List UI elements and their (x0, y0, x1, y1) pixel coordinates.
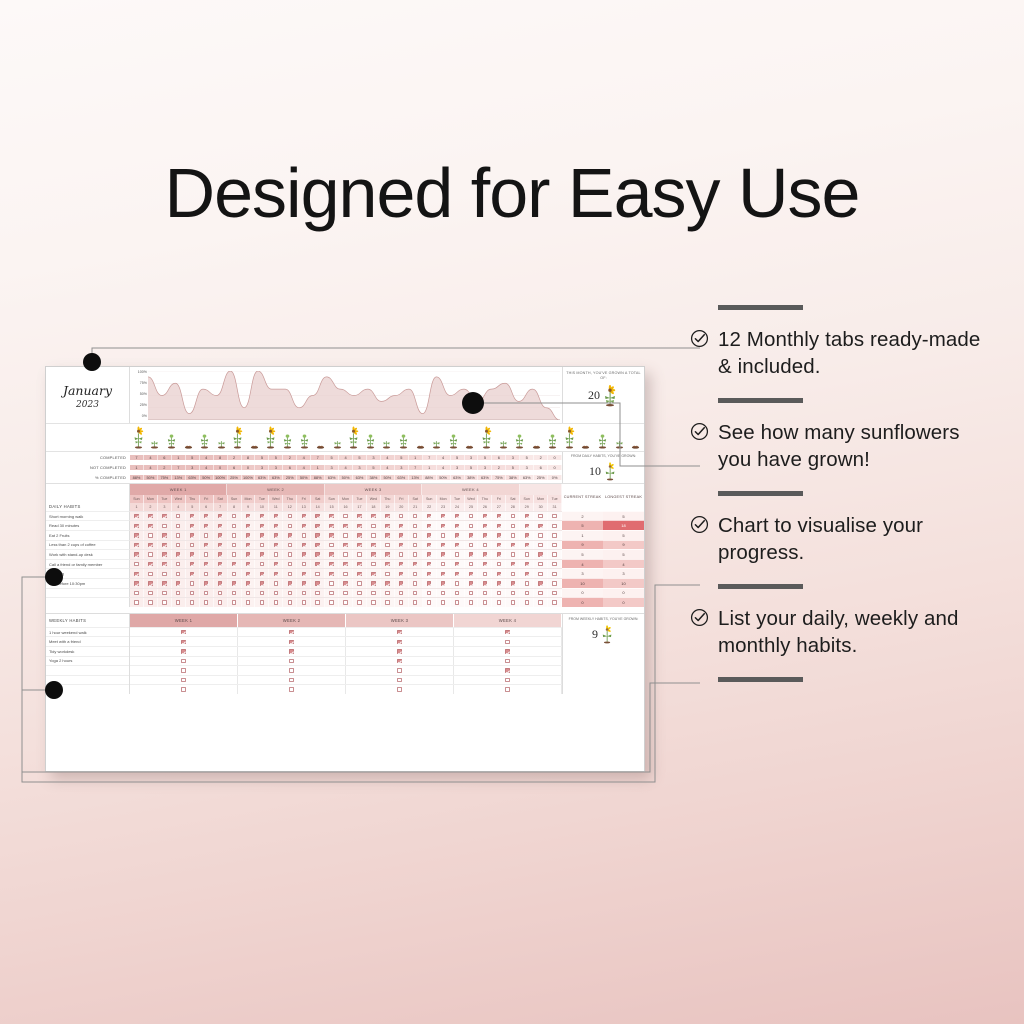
habit-checkbox-cell[interactable] (353, 589, 367, 598)
daily-habits-day-grid[interactable]: WEEK 1WEEK 2WEEK 3WEEK 4 SunMonTueWedThu… (130, 484, 562, 607)
checkbox-checked[interactable] (455, 562, 459, 566)
checkbox-checked[interactable] (413, 562, 417, 566)
checkbox-checked[interactable] (232, 562, 236, 566)
habit-checkbox-cell[interactable] (158, 521, 172, 530)
checkbox-checked[interactable] (181, 649, 185, 653)
checkbox-checked[interactable] (538, 524, 542, 528)
habit-checkbox-cell[interactable] (492, 589, 506, 598)
checkbox-unchecked[interactable] (538, 572, 542, 576)
habit-checkbox-cell[interactable] (492, 550, 506, 559)
checkbox-checked[interactable] (176, 552, 180, 556)
habit-checkbox-cell[interactable] (214, 598, 228, 607)
habit-checkbox-cell[interactable] (520, 550, 534, 559)
habit-checkbox-cell[interactable] (534, 512, 548, 521)
checkbox-checked[interactable] (371, 552, 375, 556)
habit-checkbox-cell[interactable] (255, 598, 269, 607)
checkbox-checked[interactable] (427, 581, 431, 585)
habit-checkbox-cell[interactable] (492, 598, 506, 607)
habit-checkbox-cell[interactable] (478, 569, 492, 578)
checkbox-checked[interactable] (329, 533, 333, 537)
checkbox-unchecked[interactable] (204, 533, 208, 537)
weekly-checkbox-cell[interactable] (454, 647, 562, 656)
habit-checkbox-cell[interactable] (451, 569, 465, 578)
habit-checkbox-cell[interactable] (339, 569, 353, 578)
habit-checkbox-cell[interactable] (423, 531, 437, 540)
habit-checkbox-cell[interactable] (409, 598, 423, 607)
checkbox-unchecked[interactable] (469, 600, 473, 604)
habit-checkbox-cell[interactable] (242, 569, 256, 578)
habit-checkbox-cell[interactable] (451, 560, 465, 569)
habit-checkbox-cell[interactable] (186, 579, 200, 588)
checkbox-checked[interactable] (427, 524, 431, 528)
checkbox-checked[interactable] (505, 649, 509, 653)
habit-checkbox-cell[interactable] (242, 589, 256, 598)
checkbox-unchecked[interactable] (357, 552, 361, 556)
checkbox-checked[interactable] (525, 543, 529, 547)
checkbox-unchecked[interactable] (399, 514, 403, 518)
weekly-habits-grid[interactable]: WEEK 1WEEK 2WEEK 3WEEK 4 (130, 614, 562, 694)
weekly-habit-row[interactable]: Tidy workdesk (46, 646, 129, 656)
habit-checkbox-cell[interactable] (353, 560, 367, 569)
checkbox-checked[interactable] (483, 524, 487, 528)
habit-checkbox-cell[interactable] (506, 512, 520, 521)
habit-checkbox-cell[interactable] (353, 541, 367, 550)
habit-checkbox-cell[interactable] (506, 521, 520, 530)
checkbox-unchecked[interactable] (181, 678, 185, 682)
habit-checkbox-cell[interactable] (242, 531, 256, 540)
checkbox-unchecked[interactable] (413, 514, 417, 518)
habit-checkbox-cell[interactable] (158, 550, 172, 559)
checkbox-checked[interactable] (483, 533, 487, 537)
habit-checkbox-cell[interactable] (297, 531, 311, 540)
habit-checkbox-cell[interactable] (492, 560, 506, 569)
checkbox-unchecked[interactable] (469, 543, 473, 547)
habit-checkbox-cell[interactable] (214, 512, 228, 521)
habit-checkbox-cell[interactable] (534, 531, 548, 540)
checkbox-checked[interactable] (246, 524, 250, 528)
checkbox-checked[interactable] (148, 562, 152, 566)
habit-checkbox-cell[interactable] (325, 569, 339, 578)
checkbox-checked[interactable] (525, 572, 529, 576)
habit-checkbox-cell[interactable] (339, 521, 353, 530)
checkbox-checked[interactable] (246, 572, 250, 576)
habit-checkbox-cell[interactable] (395, 531, 409, 540)
checkbox-checked[interactable] (288, 581, 292, 585)
checkbox-checked[interactable] (190, 552, 194, 556)
habit-checkbox-cell[interactable] (548, 589, 562, 598)
habit-checkbox-cell[interactable] (200, 589, 214, 598)
checkbox-unchecked[interactable] (162, 591, 166, 595)
weekly-checkbox-cell[interactable] (454, 676, 562, 685)
checkbox-unchecked[interactable] (232, 524, 236, 528)
habit-checkbox-cell[interactable] (465, 521, 479, 530)
checkbox-checked[interactable] (511, 543, 515, 547)
habit-checkbox-cell[interactable] (172, 531, 186, 540)
checkbox-unchecked[interactable] (511, 524, 515, 528)
checkbox-checked[interactable] (148, 543, 152, 547)
checkbox-unchecked[interactable] (134, 600, 138, 604)
habit-checkbox-cell[interactable] (283, 541, 297, 550)
checkbox-unchecked[interactable] (176, 533, 180, 537)
habit-checkbox-cell[interactable] (409, 541, 423, 550)
checkbox-unchecked[interactable] (511, 552, 515, 556)
checkbox-unchecked[interactable] (413, 524, 417, 528)
habit-checkbox-cell[interactable] (478, 521, 492, 530)
checkbox-checked[interactable] (483, 514, 487, 518)
checkbox-checked[interactable] (427, 533, 431, 537)
checkbox-unchecked[interactable] (469, 591, 473, 595)
checkbox-checked[interactable] (385, 562, 389, 566)
habit-checkbox-cell[interactable] (465, 541, 479, 550)
checkbox-checked[interactable] (399, 562, 403, 566)
habit-checkbox-cell[interactable] (158, 589, 172, 598)
habit-checkbox-cell[interactable] (367, 598, 381, 607)
checkbox-checked[interactable] (260, 514, 264, 518)
checkbox-unchecked[interactable] (505, 687, 509, 691)
habit-checkbox-cell[interactable] (367, 560, 381, 569)
habit-checkbox-cell[interactable] (311, 521, 325, 530)
habit-checkbox-cell[interactable] (158, 512, 172, 521)
habit-checkbox-row[interactable] (130, 540, 562, 550)
checkbox-checked[interactable] (427, 562, 431, 566)
checkbox-checked[interactable] (134, 514, 138, 518)
checkbox-checked[interactable] (274, 514, 278, 518)
habit-checkbox-cell[interactable] (200, 512, 214, 521)
habit-checkbox-cell[interactable] (283, 560, 297, 569)
checkbox-unchecked[interactable] (329, 581, 333, 585)
habit-checkbox-cell[interactable] (325, 512, 339, 521)
habit-checkbox-cell[interactable] (186, 550, 200, 559)
habit-checkbox-cell[interactable] (423, 550, 437, 559)
checkbox-checked[interactable] (371, 543, 375, 547)
habit-checkbox-cell[interactable] (200, 521, 214, 530)
checkbox-checked[interactable] (385, 533, 389, 537)
habit-checkbox-cell[interactable] (325, 550, 339, 559)
checkbox-unchecked[interactable] (469, 514, 473, 518)
checkbox-unchecked[interactable] (288, 524, 292, 528)
checkbox-unchecked[interactable] (397, 678, 401, 682)
checkbox-checked[interactable] (497, 552, 501, 556)
habit-checkbox-cell[interactable] (409, 550, 423, 559)
habit-checkbox-cell[interactable] (381, 598, 395, 607)
habit-checkbox-cell[interactable] (492, 512, 506, 521)
checkbox-unchecked[interactable] (288, 572, 292, 576)
habit-checkbox-cell[interactable] (353, 579, 367, 588)
checkbox-unchecked[interactable] (552, 591, 556, 595)
habit-checkbox-cell[interactable] (297, 541, 311, 550)
habit-checkbox-cell[interactable] (367, 541, 381, 550)
habit-checkbox-cell[interactable] (437, 579, 451, 588)
checkbox-unchecked[interactable] (246, 591, 250, 595)
checkbox-unchecked[interactable] (274, 581, 278, 585)
checkbox-checked[interactable] (162, 552, 166, 556)
checkbox-unchecked[interactable] (288, 543, 292, 547)
habit-checkbox-cell[interactable] (534, 598, 548, 607)
daily-habit-row[interactable]: Work with stand-up desk (46, 549, 130, 559)
checkbox-checked[interactable] (218, 562, 222, 566)
checkbox-unchecked[interactable] (302, 562, 306, 566)
checkbox-unchecked[interactable] (148, 533, 152, 537)
habit-checkbox-cell[interactable] (367, 531, 381, 540)
weekly-checkbox-cell[interactable] (130, 637, 238, 646)
habit-checkbox-cell[interactable] (353, 512, 367, 521)
habit-checkbox-cell[interactable] (367, 589, 381, 598)
checkbox-unchecked[interactable] (289, 659, 293, 663)
habit-checkbox-cell[interactable] (381, 521, 395, 530)
habit-checkbox-cell[interactable] (325, 531, 339, 540)
habit-checkbox-cell[interactable] (423, 598, 437, 607)
checkbox-checked[interactable] (441, 543, 445, 547)
checkbox-checked[interactable] (204, 581, 208, 585)
checkbox-checked[interactable] (148, 581, 152, 585)
habit-checkbox-cell[interactable] (130, 541, 144, 550)
habit-checkbox-row[interactable] (130, 578, 562, 588)
checkbox-unchecked[interactable] (399, 591, 403, 595)
checkbox-checked[interactable] (315, 581, 319, 585)
habit-checkbox-cell[interactable] (339, 531, 353, 540)
checkbox-checked[interactable] (246, 514, 250, 518)
weekly-checkbox-cell[interactable] (454, 637, 562, 646)
checkbox-unchecked[interactable] (232, 572, 236, 576)
checkbox-checked[interactable] (399, 572, 403, 576)
weekly-checkbox-cell[interactable] (238, 628, 346, 637)
habit-checkbox-cell[interactable] (269, 598, 283, 607)
checkbox-unchecked[interactable] (441, 591, 445, 595)
checkbox-unchecked[interactable] (469, 524, 473, 528)
habit-checkbox-cell[interactable] (423, 541, 437, 550)
checkbox-checked[interactable] (397, 630, 401, 634)
checkbox-checked[interactable] (538, 552, 542, 556)
habit-checkbox-cell[interactable] (548, 569, 562, 578)
habit-checkbox-cell[interactable] (395, 550, 409, 559)
checkbox-checked[interactable] (315, 552, 319, 556)
habit-checkbox-cell[interactable] (297, 589, 311, 598)
habit-checkbox-cell[interactable] (492, 521, 506, 530)
checkbox-unchecked[interactable] (190, 543, 194, 547)
weekly-checkbox-cell[interactable] (238, 657, 346, 666)
checkbox-checked[interactable] (302, 524, 306, 528)
checkbox-checked[interactable] (246, 562, 250, 566)
habit-checkbox-cell[interactable] (158, 531, 172, 540)
habit-checkbox-cell[interactable] (423, 521, 437, 530)
habit-checkbox-cell[interactable] (381, 579, 395, 588)
habit-checkbox-cell[interactable] (353, 598, 367, 607)
habit-checkbox-cell[interactable] (395, 560, 409, 569)
weekly-checkbox-cell[interactable] (346, 676, 454, 685)
checkbox-unchecked[interactable] (413, 572, 417, 576)
checkbox-checked[interactable] (190, 514, 194, 518)
habit-checkbox-cell[interactable] (130, 589, 144, 598)
habit-checkbox-cell[interactable] (395, 589, 409, 598)
habit-checkbox-cell[interactable] (283, 579, 297, 588)
habit-checkbox-cell[interactable] (451, 521, 465, 530)
checkbox-unchecked[interactable] (190, 581, 194, 585)
habit-checkbox-cell[interactable] (242, 521, 256, 530)
checkbox-checked[interactable] (274, 543, 278, 547)
habit-checkbox-cell[interactable] (283, 550, 297, 559)
habit-checkbox-cell[interactable] (297, 512, 311, 521)
habit-checkbox-cell[interactable] (451, 531, 465, 540)
checkbox-checked[interactable] (441, 572, 445, 576)
checkbox-checked[interactable] (357, 524, 361, 528)
checkbox-checked[interactable] (329, 524, 333, 528)
habit-checkbox-cell[interactable] (325, 521, 339, 530)
checkbox-unchecked[interactable] (371, 524, 375, 528)
checkbox-unchecked[interactable] (511, 591, 515, 595)
habit-checkbox-cell[interactable] (437, 589, 451, 598)
habit-checkbox-cell[interactable] (255, 579, 269, 588)
checkbox-checked[interactable] (260, 552, 264, 556)
checkbox-unchecked[interactable] (148, 591, 152, 595)
weekly-checkbox-cell[interactable] (346, 637, 454, 646)
checkbox-checked[interactable] (302, 543, 306, 547)
habit-checkbox-cell[interactable] (548, 512, 562, 521)
habit-checkbox-cell[interactable] (478, 550, 492, 559)
habit-checkbox-cell[interactable] (311, 579, 325, 588)
habit-checkbox-cell[interactable] (172, 579, 186, 588)
habit-checkbox-cell[interactable] (297, 569, 311, 578)
habit-checkbox-cell[interactable] (186, 569, 200, 578)
checkbox-checked[interactable] (497, 581, 501, 585)
checkbox-checked[interactable] (134, 524, 138, 528)
checkbox-checked[interactable] (260, 524, 264, 528)
checkbox-checked[interactable] (505, 668, 509, 672)
checkbox-unchecked[interactable] (288, 552, 292, 556)
checkbox-checked[interactable] (162, 543, 166, 547)
checkbox-checked[interactable] (427, 552, 431, 556)
habit-checkbox-cell[interactable] (339, 598, 353, 607)
habit-checkbox-cell[interactable] (228, 521, 242, 530)
checkbox-checked[interactable] (399, 581, 403, 585)
habit-checkbox-cell[interactable] (311, 560, 325, 569)
habit-checkbox-cell[interactable] (269, 579, 283, 588)
habit-checkbox-cell[interactable] (228, 550, 242, 559)
habit-checkbox-cell[interactable] (172, 541, 186, 550)
checkbox-checked[interactable] (260, 572, 264, 576)
checkbox-unchecked[interactable] (288, 591, 292, 595)
checkbox-unchecked[interactable] (397, 687, 401, 691)
daily-habit-row[interactable]: Flossing (46, 568, 130, 578)
checkbox-unchecked[interactable] (511, 533, 515, 537)
weekly-checkbox-cell[interactable] (454, 657, 562, 666)
checkbox-checked[interactable] (246, 543, 250, 547)
checkbox-unchecked[interactable] (538, 543, 542, 547)
habit-checkbox-cell[interactable] (144, 512, 158, 521)
checkbox-checked[interactable] (455, 572, 459, 576)
checkbox-checked[interactable] (455, 543, 459, 547)
habit-checkbox-cell[interactable] (367, 512, 381, 521)
checkbox-checked[interactable] (162, 562, 166, 566)
habit-checkbox-cell[interactable] (255, 531, 269, 540)
habit-checkbox-cell[interactable] (130, 512, 144, 521)
checkbox-unchecked[interactable] (204, 591, 208, 595)
habit-checkbox-cell[interactable] (520, 589, 534, 598)
checkbox-unchecked[interactable] (357, 581, 361, 585)
checkbox-unchecked[interactable] (162, 572, 166, 576)
habit-checkbox-cell[interactable] (228, 512, 242, 521)
habit-checkbox-cell[interactable] (423, 512, 437, 521)
checkbox-unchecked[interactable] (260, 591, 264, 595)
checkbox-checked[interactable] (343, 581, 347, 585)
checkbox-checked[interactable] (525, 533, 529, 537)
habit-checkbox-cell[interactable] (214, 550, 228, 559)
habit-checkbox-cell[interactable] (548, 550, 562, 559)
habit-checkbox-cell[interactable] (465, 598, 479, 607)
checkbox-unchecked[interactable] (302, 591, 306, 595)
weekly-checkbox-cell[interactable] (238, 666, 346, 675)
habit-checkbox-cell[interactable] (172, 589, 186, 598)
habit-checkbox-cell[interactable] (409, 569, 423, 578)
habit-checkbox-cell[interactable] (130, 560, 144, 569)
checkbox-checked[interactable] (397, 649, 401, 653)
checkbox-checked[interactable] (455, 524, 459, 528)
checkbox-checked[interactable] (385, 524, 389, 528)
habit-checkbox-cell[interactable] (465, 531, 479, 540)
habit-checkbox-cell[interactable] (451, 512, 465, 521)
checkbox-unchecked[interactable] (204, 600, 208, 604)
habit-checkbox-cell[interactable] (144, 598, 158, 607)
habit-checkbox-cell[interactable] (311, 550, 325, 559)
checkbox-unchecked[interactable] (302, 533, 306, 537)
checkbox-checked[interactable] (399, 524, 403, 528)
habit-checkbox-cell[interactable] (437, 560, 451, 569)
habit-checkbox-cell[interactable] (437, 521, 451, 530)
habit-checkbox-cell[interactable] (506, 531, 520, 540)
checkbox-unchecked[interactable] (190, 591, 194, 595)
checkbox-checked[interactable] (505, 630, 509, 634)
checkbox-checked[interactable] (289, 649, 293, 653)
habit-checkbox-cell[interactable] (311, 589, 325, 598)
habit-checkbox-cell[interactable] (534, 579, 548, 588)
checkbox-unchecked[interactable] (441, 600, 445, 604)
checkbox-checked[interactable] (511, 562, 515, 566)
checkbox-unchecked[interactable] (552, 581, 556, 585)
checkbox-checked[interactable] (315, 524, 319, 528)
habit-checkbox-cell[interactable] (437, 541, 451, 550)
habit-checkbox-cell[interactable] (395, 521, 409, 530)
checkbox-checked[interactable] (246, 533, 250, 537)
habit-checkbox-cell[interactable] (520, 541, 534, 550)
checkbox-unchecked[interactable] (204, 572, 208, 576)
habit-checkbox-cell[interactable] (228, 598, 242, 607)
checkbox-checked[interactable] (525, 524, 529, 528)
habit-checkbox-cell[interactable] (311, 598, 325, 607)
checkbox-checked[interactable] (274, 572, 278, 576)
checkbox-checked[interactable] (162, 514, 166, 518)
checkbox-unchecked[interactable] (343, 600, 347, 604)
checkbox-checked[interactable] (329, 552, 333, 556)
checkbox-unchecked[interactable] (218, 591, 222, 595)
habit-checkbox-cell[interactable] (144, 560, 158, 569)
habit-checkbox-cell[interactable] (451, 550, 465, 559)
habit-checkbox-cell[interactable] (381, 589, 395, 598)
habit-checkbox-cell[interactable] (269, 589, 283, 598)
checkbox-checked[interactable] (289, 640, 293, 644)
habit-checkbox-cell[interactable] (506, 550, 520, 559)
checkbox-unchecked[interactable] (315, 572, 319, 576)
habit-checkbox-cell[interactable] (339, 560, 353, 569)
habit-checkbox-cell[interactable] (353, 550, 367, 559)
habit-checkbox-cell[interactable] (409, 560, 423, 569)
habit-checkbox-cell[interactable] (214, 579, 228, 588)
daily-habit-row[interactable]: Short morning walk (46, 511, 130, 521)
habit-checkbox-cell[interactable] (186, 589, 200, 598)
checkbox-unchecked[interactable] (176, 562, 180, 566)
checkbox-unchecked[interactable] (455, 552, 459, 556)
habit-checkbox-cell[interactable] (186, 521, 200, 530)
habit-checkbox-cell[interactable] (548, 531, 562, 540)
habit-checkbox-row[interactable] (130, 511, 562, 521)
